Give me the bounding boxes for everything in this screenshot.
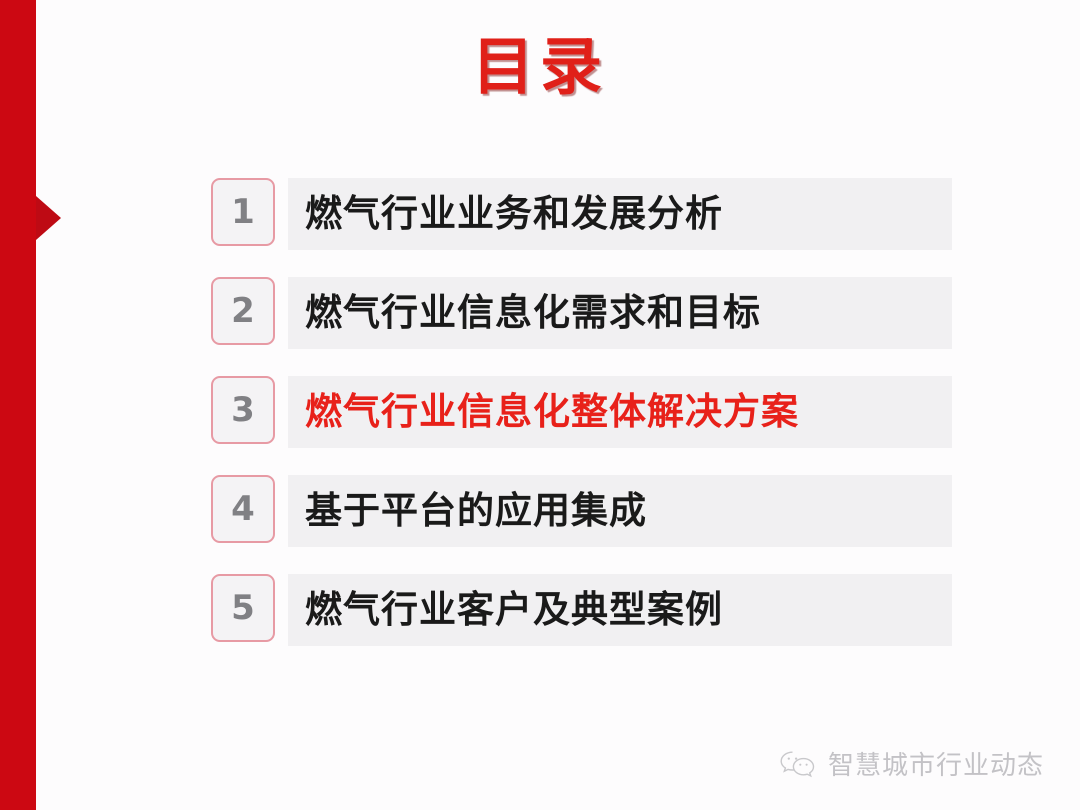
toc-label-2: 燃气行业信息化需求和目标 xyxy=(288,294,761,333)
toc-label-5: 燃气行业客户及典型案例 xyxy=(288,591,723,630)
toc-number-box-3: 3 xyxy=(211,376,275,444)
toc-number-box-1: 1 xyxy=(211,178,275,246)
toc-panel-5[interactable]: 燃气行业客户及典型案例 xyxy=(288,574,952,646)
toc-number-1: 1 xyxy=(231,195,255,229)
footer-watermark: 智慧城市行业动态 xyxy=(778,745,1044,782)
toc-number-box-2: 2 xyxy=(211,277,275,345)
toc-panel-2[interactable]: 燃气行业信息化需求和目标 xyxy=(288,277,952,349)
toc-number-box-5: 5 xyxy=(211,574,275,642)
toc-number-box-4: 4 xyxy=(211,475,275,543)
toc-panel-3[interactable]: 燃气行业信息化整体解决方案 xyxy=(288,376,952,448)
toc-number-5: 5 xyxy=(231,591,255,625)
toc-item-2[interactable]: 2 燃气行业信息化需求和目标 xyxy=(211,277,952,349)
toc-label-1: 燃气行业业务和发展分析 xyxy=(288,195,723,234)
toc-number-3: 3 xyxy=(231,393,255,427)
toc-label-3: 燃气行业信息化整体解决方案 xyxy=(288,393,799,432)
toc-item-1[interactable]: 1 燃气行业业务和发展分析 xyxy=(211,178,952,250)
toc-panel-4[interactable]: 基于平台的应用集成 xyxy=(288,475,952,547)
toc-item-3[interactable]: 3 燃气行业信息化整体解决方案 xyxy=(211,376,952,448)
wechat-logo-icon xyxy=(778,749,818,779)
toc-label-4: 基于平台的应用集成 xyxy=(288,492,647,531)
toc-number-2: 2 xyxy=(231,294,255,328)
toc-item-4[interactable]: 4 基于平台的应用集成 xyxy=(211,475,952,547)
toc-panel-1[interactable]: 燃气行业业务和发展分析 xyxy=(288,178,952,250)
toc-number-4: 4 xyxy=(231,492,255,526)
toc-item-5[interactable]: 5 燃气行业客户及典型案例 xyxy=(211,574,952,646)
toc-list: 1 燃气行业业务和发展分析 2 燃气行业信息化需求和目标 3 燃气行业信息化整体… xyxy=(0,0,1080,810)
footer-watermark-label: 智慧城市行业动态 xyxy=(828,745,1044,782)
